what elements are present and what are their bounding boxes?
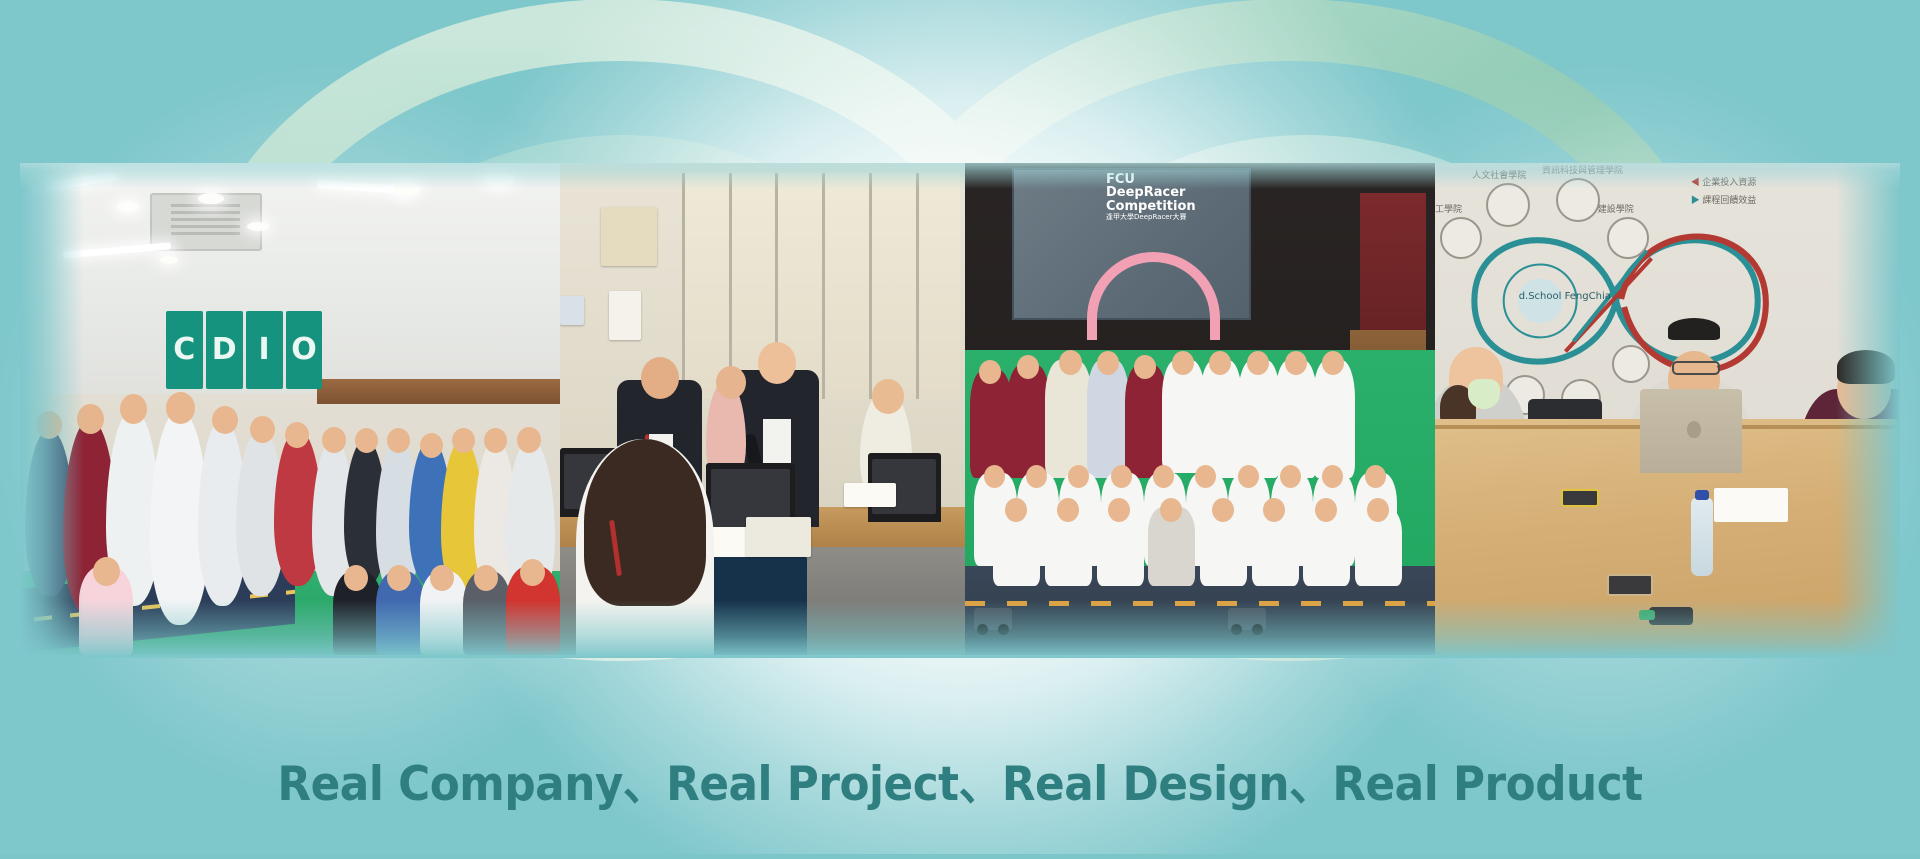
wall-label-3: 資訊科技與管理學院 [1542, 163, 1623, 176]
dschool-center-label: d.School FengChia [1519, 291, 1611, 302]
wall-label-5: 建設學院 [1598, 202, 1634, 215]
photo-3-deepracer-competition[interactable]: FCU DeepRacer Competition 逢甲大學DeepRacer大… [965, 163, 1435, 655]
phone-on-table [1607, 574, 1653, 596]
water-bottle [1691, 498, 1713, 576]
photo-2-project-presentation[interactable]: Students in suits presenting with a micr… [560, 163, 965, 655]
photo-strip: CDIO [20, 163, 1900, 655]
notepad [1714, 488, 1788, 522]
macbook-laptop [1640, 389, 1742, 473]
wall-legend: ◀ 企業投入資源 ▶ 課程回饋效益 [1691, 173, 1757, 209]
photo-4-dschool-meeting[interactable]: d.School FengChia 人文社會學院 資訊科技與管理學院 工學院 建… [1435, 163, 1900, 655]
legend-item-2: 課程回饋效益 [1702, 195, 1756, 205]
keys [1649, 607, 1693, 625]
banner-tagline: Real Company、Real Project、Real Design、Re… [67, 745, 1853, 814]
wall-label-4: 工學院 [1435, 202, 1462, 215]
legend-item-1: 企業投入資源 [1702, 177, 1756, 187]
wall-label-1: 人文社會學院 [1472, 168, 1526, 181]
face-mask [1468, 379, 1500, 409]
photo-1-cdio-group[interactable]: CDIO [20, 163, 560, 655]
